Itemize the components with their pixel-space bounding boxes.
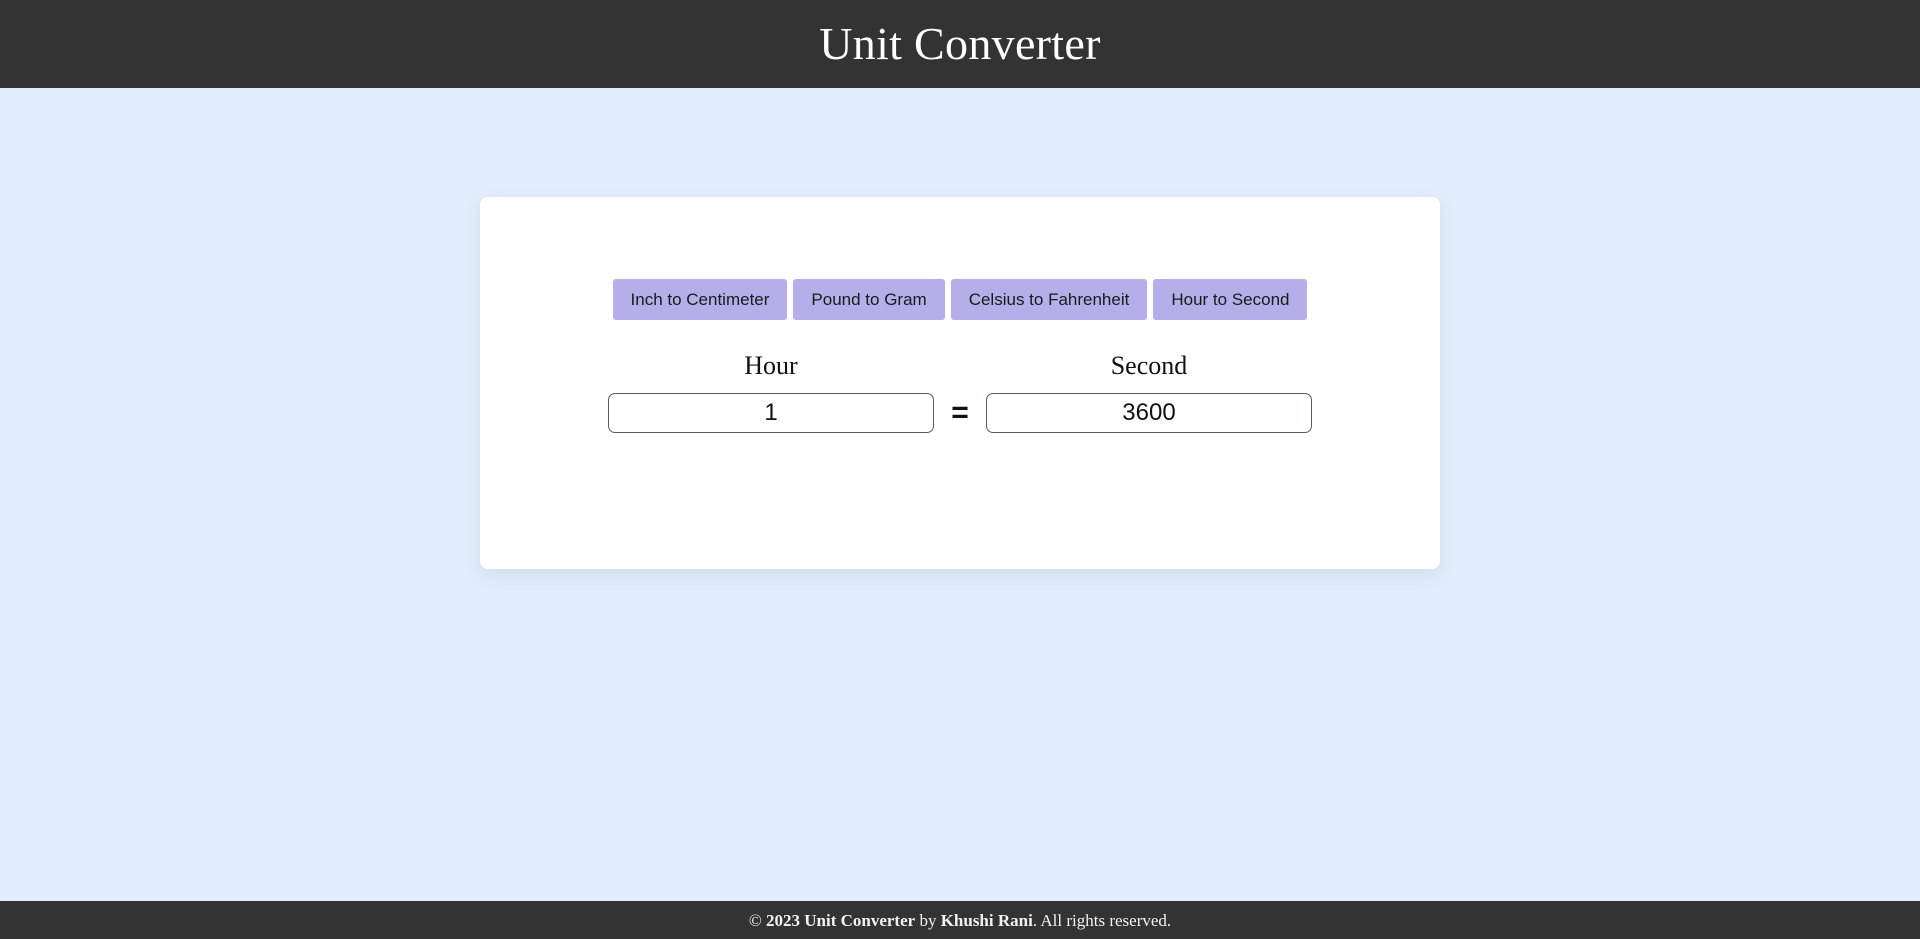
to-field-group: Second [986,352,1312,433]
app-header: Unit Converter [0,0,1920,88]
footer-by-word: by [919,911,936,930]
footer-copyright: © 2023 Unit Converter by Khushi Rani. Al… [749,912,1171,929]
main-content: Inch to Centimeter Pound to Gram Celsius… [0,88,1920,569]
copyright-symbol: © [749,911,762,930]
tab-celsius-to-fahrenheit[interactable]: Celsius to Fahrenheit [951,279,1148,320]
tab-hour-to-second[interactable]: Hour to Second [1153,279,1307,320]
footer-rights: . All rights reserved. [1033,911,1171,930]
tab-inch-to-centimeter[interactable]: Inch to Centimeter [613,279,788,320]
app-footer: © 2023 Unit Converter by Khushi Rani. Al… [0,901,1920,939]
conversion-area: Hour = Second [480,352,1440,433]
from-value-input[interactable] [608,393,934,433]
from-field-group: Hour [608,352,934,433]
to-value-input[interactable] [986,393,1312,433]
footer-year-app: 2023 Unit Converter [766,911,915,930]
to-unit-label: Second [1111,352,1188,381]
converter-card: Inch to Centimeter Pound to Gram Celsius… [480,197,1440,569]
from-unit-label: Hour [744,352,797,381]
unit-tab-row: Inch to Centimeter Pound to Gram Celsius… [480,279,1440,320]
tab-pound-to-gram[interactable]: Pound to Gram [793,279,944,320]
footer-author: Khushi Rani [941,911,1033,930]
equals-sign: = [934,393,986,433]
page-title: Unit Converter [819,21,1100,67]
